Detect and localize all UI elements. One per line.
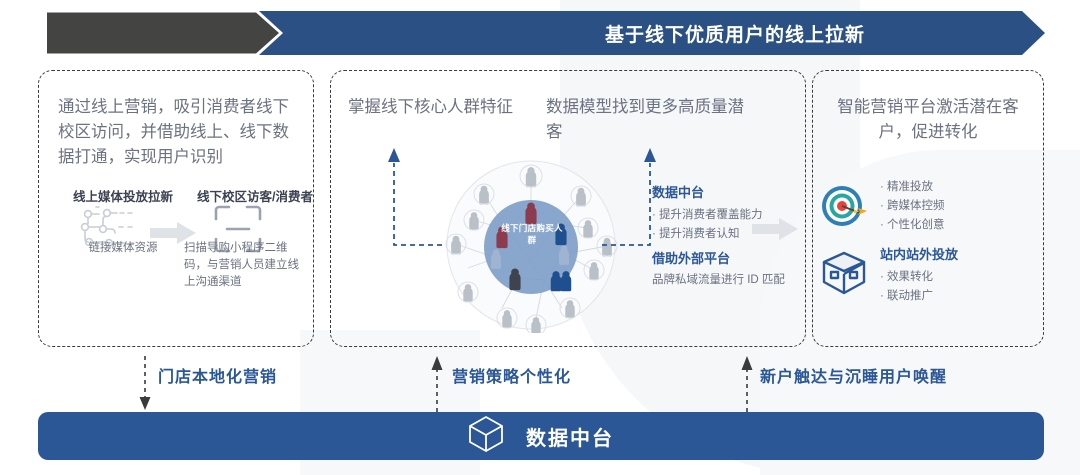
dashed-arrow-up-icon-1 bbox=[430, 356, 444, 417]
bottom-label-1: 营销策略个性化 bbox=[452, 363, 571, 387]
cube-icon bbox=[468, 415, 504, 458]
banner-title: 基于线下优质用户的线上拉新 bbox=[455, 11, 1015, 55]
left-col2-caption: 扫描导购小程序二维码，与营销人员建立线上沟通渠道 bbox=[184, 240, 304, 291]
middle-block-1-title: 数据中台 bbox=[652, 182, 802, 201]
panel-middle-heading-2: 数据模型找到更多高质量潜客 bbox=[546, 95, 746, 145]
target-icon bbox=[820, 182, 868, 235]
cluster-label: 线下门店购买人群 bbox=[497, 222, 567, 246]
middle-block-2: 借助外部平台 品牌私域流量进行 ID 匹配 bbox=[652, 248, 802, 289]
open-box-icon bbox=[820, 250, 868, 303]
left-col1-title: 线上媒体投放拉新 bbox=[58, 186, 188, 205]
dashed-elbow-arrow-right bbox=[600, 145, 660, 255]
diagram-canvas: 基于线下优质用户的线上拉新 通过线上营销，吸引消费者线下校区访问，并借助线上、线… bbox=[0, 0, 1080, 475]
right-block-1-item-1: · 跨媒体控频 bbox=[880, 197, 1030, 216]
right-block-2-title: 站内站外投放 bbox=[880, 244, 1030, 263]
panel-right-heading: 智能营销平台激活潜在客户，促进转化 bbox=[824, 95, 1032, 145]
dashed-elbow-arrow-left bbox=[384, 145, 444, 255]
right-block-1-item-2: · 个性化创意 bbox=[880, 216, 1030, 235]
bottom-bar-text: 数据中台 bbox=[526, 422, 614, 451]
right-block-1-item-0: · 精准投放 bbox=[880, 178, 1030, 197]
right-block-1: · 精准投放 · 跨媒体控频 · 个性化创意 bbox=[880, 178, 1030, 235]
right-block-2-item-0: · 效果转化 bbox=[880, 268, 1030, 287]
bottom-label-2: 新户触达与沉睡用户唤醒 bbox=[760, 363, 947, 387]
dashed-arrow-up-icon-2 bbox=[740, 356, 754, 417]
banner-gray-arrow bbox=[47, 13, 279, 54]
right-block-2: 站内站外投放 · 效果转化 · 联动推广 bbox=[880, 244, 1030, 306]
right-block-2-item-1: · 联动推广 bbox=[880, 287, 1030, 306]
panel-middle-heading-1: 掌握线下核心人群特征 bbox=[348, 95, 528, 120]
bottom-bar: 数据中台 bbox=[38, 412, 1044, 460]
panel-left-heading: 通过线上营销，吸引消费者线下校区访问，并借助线上、线下数据打通，实现用户识别 bbox=[58, 95, 302, 170]
middle-block-2-title: 借助外部平台 bbox=[652, 248, 802, 267]
arrow-right-icon-middle bbox=[752, 218, 798, 245]
left-col1-caption: 链接媒体资源 bbox=[58, 240, 188, 257]
dashed-arrow-down-icon bbox=[138, 356, 152, 417]
middle-block-2-text: 品牌私域流量进行 ID 匹配 bbox=[652, 272, 802, 289]
bottom-label-0: 门店本地化营销 bbox=[158, 363, 277, 387]
